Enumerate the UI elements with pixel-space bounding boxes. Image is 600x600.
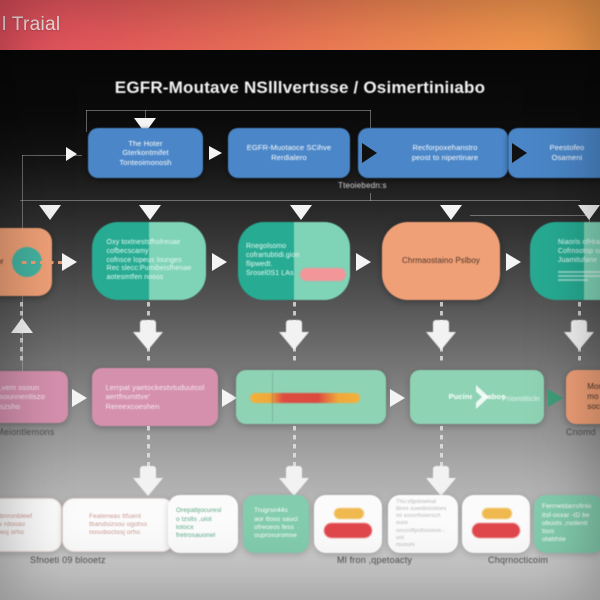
card-6-line1: Thu:sfgotowinal	[396, 499, 450, 506]
outcome-box-2[interactable]: Lerrpat yaetockestvtuduutcol aertfnumttv…	[92, 368, 218, 426]
connector-bracket-left	[86, 110, 87, 132]
outcome-box-1-line1: con,vem osoun	[0, 383, 45, 393]
card-3[interactable]: Orepabjocuresl o tzslts ,ulot lotocx fre…	[168, 495, 238, 553]
treatment-box-1[interactable]: The Hoter Gterkontmifet Tonteoimonosh	[88, 128, 203, 178]
card-2-text: Featerwas ttfuent tbandsizsou ogotso nos…	[81, 509, 155, 542]
app-header: l Traial	[0, 0, 600, 50]
pathway-box-5-text: Niaoris ofHraate Cofrnsotop oalt Juamitu…	[550, 235, 600, 287]
card-6[interactable]: Thu:sfgotowinal tbres suwsbriostoes mi s…	[388, 495, 458, 553]
treatment-box-3-line1: Recforpoxehanstro	[412, 143, 478, 153]
pathway-box-2-line2: cofbecscamy	[107, 248, 192, 257]
card-3-text: Orepabjocuresl o tzslts ,ulot lotocx fre…	[168, 503, 238, 544]
card-2-line3: nosoboctosj orho	[89, 529, 147, 537]
outcome-box-3-tick-1	[272, 372, 273, 422]
chevron-mask	[472, 388, 482, 406]
connector-dashed-col-1	[20, 302, 23, 364]
arrow-down-icon	[564, 320, 594, 352]
cards-caption-right: Chqrnocticoim	[488, 555, 548, 565]
cards-caption-left: Sfnoeti 09 blooetz	[30, 555, 106, 565]
pathway-box-2-line3: cofnsce lopeus lounges	[107, 257, 192, 266]
outcome-box-2-text: Lerrpat yaetockestvtuduutcol aertfnumttv…	[98, 379, 213, 416]
treatment-box-1-line2: Gterkontmifet	[119, 148, 171, 158]
status-pill	[300, 268, 346, 281]
outcome-box-1-line3: qnoszsho	[0, 402, 45, 412]
card-3-line2: o tzslts ,ulot lotocx	[176, 516, 230, 533]
treatment-box-1-line3: Tonteoimonosh	[119, 158, 171, 168]
pathway-box-4-label: Chrmaostaino Pslboy	[394, 252, 488, 270]
pathway-box-3[interactable]: Rnegolsomo cofrartubtidi.gion flipwedt. …	[238, 222, 350, 300]
connector-row1-drop	[370, 193, 371, 201]
connector-top-bracket	[86, 110, 371, 111]
outcome-box-3-marker	[250, 393, 360, 403]
card-8-text: Ferrnetdarrsfinlo itsf-oxxar -tD be obuo…	[534, 499, 600, 549]
card-4-text: Trugrsn44s aor ttoso saucl ofreceos fess…	[246, 503, 306, 544]
pathway-box-4[interactable]: Chrmaostaino Pslboy	[382, 222, 500, 300]
outcome-box-5-line3: socus forne cosei	[587, 402, 600, 412]
header-title: l Traial	[0, 14, 60, 36]
card-7[interactable]	[462, 495, 530, 553]
arrow-down-icon	[139, 205, 161, 220]
arrow-down-icon	[290, 205, 312, 220]
arrow-right-icon	[390, 389, 405, 407]
card-4[interactable]: Trugrsn44s aor ttoso saucl ofreceos fess…	[243, 495, 309, 553]
card-3-line3: fretrosauonel	[176, 532, 230, 540]
pathway-box-3-line1: Rnegolsomo	[246, 243, 320, 252]
outcome-box-2-line2: aertfnumttve'	[106, 392, 205, 402]
card-5[interactable]	[314, 495, 382, 553]
arrow-down-icon	[39, 205, 61, 220]
arrow-right-icon	[222, 389, 237, 407]
arrow-down-icon	[426, 320, 456, 352]
treatment-box-2-line1: EGFR-Muotaoce SCihve	[247, 143, 332, 153]
arrow-right-icon	[356, 253, 371, 271]
outcome-box-2-line3: Rereexcoeshen	[106, 402, 205, 412]
card-8-line2: itsf-oxxar -tD be	[542, 512, 596, 520]
outcome-box-5-line2: mo engeopuctca e	[587, 392, 600, 402]
card-1-line2: Ifg-cav rdooao	[0, 521, 32, 529]
treatment-box-4-line2: Osameni	[550, 153, 585, 163]
outcome-box-4-right: Priomtiticln	[494, 390, 544, 408]
card-2-line1: Featerwas ttfuent	[89, 513, 147, 521]
play-triangle-icon	[362, 143, 377, 163]
card-4-line3: ofreceos fess	[254, 524, 298, 532]
treatment-box-2-line2: Rerdialero	[247, 153, 332, 163]
card-2[interactable]: Featerwas ttfuent tbandsizsou ogotso nos…	[62, 498, 174, 552]
arrow-down-icon	[578, 205, 600, 220]
connector-row1-underline	[20, 200, 580, 201]
outcome-box-4[interactable]: Pucinehvnabos Priomtiticln	[410, 370, 544, 424]
cards-caption-mid: Ml fron ,qpetoacty	[337, 555, 412, 565]
treatment-box-1-text: The Hoter Gterkontmifet Tonteoimonosh	[111, 135, 179, 172]
pathway-box-5-bar-1	[558, 271, 600, 273]
pathway-box-1-label: or	[0, 253, 12, 271]
card-1[interactable]: tdo sabnronbleef Ifg-cav rdooao nooocesj…	[0, 498, 62, 552]
treatment-box-3-line2: peost to nipertinare	[412, 153, 478, 163]
pill-bottom	[324, 523, 372, 538]
play-triangle-icon	[512, 143, 527, 163]
arrow-down-icon	[133, 466, 163, 498]
page-title: EGFR-Moutave NSlllvertısse / Osimertiniı…	[0, 78, 600, 98]
arrow-down-icon	[279, 466, 309, 498]
pathway-box-5-bar-3	[558, 279, 588, 281]
treatment-box-4-line1: Peestofeo	[550, 143, 585, 153]
arrow-right-icon	[62, 253, 77, 271]
card-3-line1: Orepabjocuresl	[176, 507, 230, 515]
card-1-line1: tdo sabnronbleef	[0, 513, 32, 521]
card-6-line3: mi sosorfosiersch suos	[396, 513, 450, 527]
arrow-right-icon	[66, 147, 77, 161]
card-4-line4: ouprosuromse	[254, 532, 298, 540]
arrow-down-icon	[279, 320, 309, 352]
card-1-text: tdo sabnronbleef Ifg-cav rdooao nooocesj…	[0, 509, 40, 542]
outcome-box-5-line1: Morfoem nofvso	[587, 382, 600, 392]
outcome-caption-left: Meiontlemons	[0, 427, 54, 437]
treatment-box-4-text: Peestofeo Osameni	[542, 139, 593, 166]
outcome-caption-right: Cnomd	[566, 427, 596, 437]
outcome-box-1-text: con,vem osoun 1 Osounnentiszo qnoszsho	[0, 379, 53, 416]
treatment-box-2-text: EGFR-Muotaoce SCihve Rerdialero	[239, 139, 340, 166]
treatment-box-3[interactable]: Recforpoxehanstro peost to nipertinare	[358, 128, 508, 178]
card-6-text: Thu:sfgotowinal tbres suwsbriostoes mi s…	[388, 495, 458, 552]
treatment-caption: Tteoiebedn:s	[338, 181, 387, 190]
pill-top	[334, 508, 364, 519]
outcome-box-5[interactable]: Morfoem nofvso mo engeopuctca e socus fo…	[566, 370, 600, 424]
outcome-box-1-line2: 1 Osounnentiszo	[0, 392, 45, 402]
card-6-line4: oocooftpofosoeos--uot	[396, 528, 450, 542]
arrow-down-icon	[133, 320, 163, 352]
treatment-box-2[interactable]: EGFR-Muotaoce SCihve Rerdialero	[228, 128, 350, 178]
card-8-line4: otabfste	[542, 536, 596, 544]
diagram-canvas: l Traial EGFR-Moutave NSlllvertısse / Os…	[0, 0, 600, 600]
treatment-box-1-line1: The Hoter	[119, 139, 171, 149]
card-6-line5: rsuouni	[396, 542, 450, 549]
card-2-line2: tbandsizsou ogotso	[89, 521, 147, 529]
card-4-line1: Trugrsn44s	[254, 507, 298, 515]
arrow-down-icon	[426, 466, 456, 498]
card-4-line2: aor ttoso saucl	[254, 516, 298, 524]
pill-bottom	[472, 523, 520, 538]
arrow-down-icon	[440, 205, 462, 220]
arrow-right-icon	[212, 253, 227, 271]
pathway-box-5-line3: Juamitufane	[558, 257, 600, 266]
card-8-line1: Ferrnetdarrsfinlo	[542, 503, 596, 511]
pathway-box-2-text: Oxy toxtnestsfholreuae cofbecscamy cofns…	[99, 235, 200, 288]
card-1-line3: nooocesj orho	[0, 529, 32, 537]
pathway-box-2[interactable]: Oxy toxtnestsfholreuae cofbecscamy cofns…	[92, 222, 206, 300]
arrow-up-icon	[11, 318, 33, 333]
card-6-line2: tbres suwsbriostoes	[396, 506, 450, 513]
connector-right-loop	[470, 215, 590, 216]
arrow-right-icon	[72, 389, 87, 407]
outcome-box-5-text: Morfoem nofvso mo engeopuctca e socus fo…	[579, 378, 600, 417]
pathway-box-2-line4: Rec slecc:Pumibeisfhenae	[107, 265, 192, 274]
arrow-right-icon	[548, 389, 563, 407]
card-8-line3: obuots ,rsolenti tsus	[542, 520, 596, 537]
pathway-box-2-line1: Oxy toxtnestsfholreuae	[107, 239, 192, 248]
card-8[interactable]: Ferrnetdarrsfinlo itsf-oxxar -tD be obuo…	[534, 495, 600, 553]
outcome-box-2-line1: Lerrpat yaetockestvtuduutcol	[106, 383, 205, 393]
pathway-box-5-line1: Niaoris ofHraate	[558, 239, 600, 248]
pill-top	[482, 508, 512, 519]
outcome-box-3[interactable]	[236, 370, 386, 424]
arrow-right-icon	[506, 253, 521, 271]
treatment-box-3-text: Recforpoxehanstro peost to nipertinare	[404, 139, 486, 166]
pathway-box-5-line2: Cofrnsotop oalt	[558, 248, 600, 257]
pathway-box-5[interactable]: Niaoris ofHraate Cofrnsotop oalt Juamitu…	[530, 222, 600, 300]
pathway-box-2-line5: aotesmtfen nooss	[107, 274, 192, 283]
arrow-right-icon	[209, 146, 222, 160]
pathway-box-5-bar-2	[558, 275, 600, 277]
outcome-box-1[interactable]: con,vem osoun 1 Osounnentiszo qnoszsho	[0, 371, 68, 423]
